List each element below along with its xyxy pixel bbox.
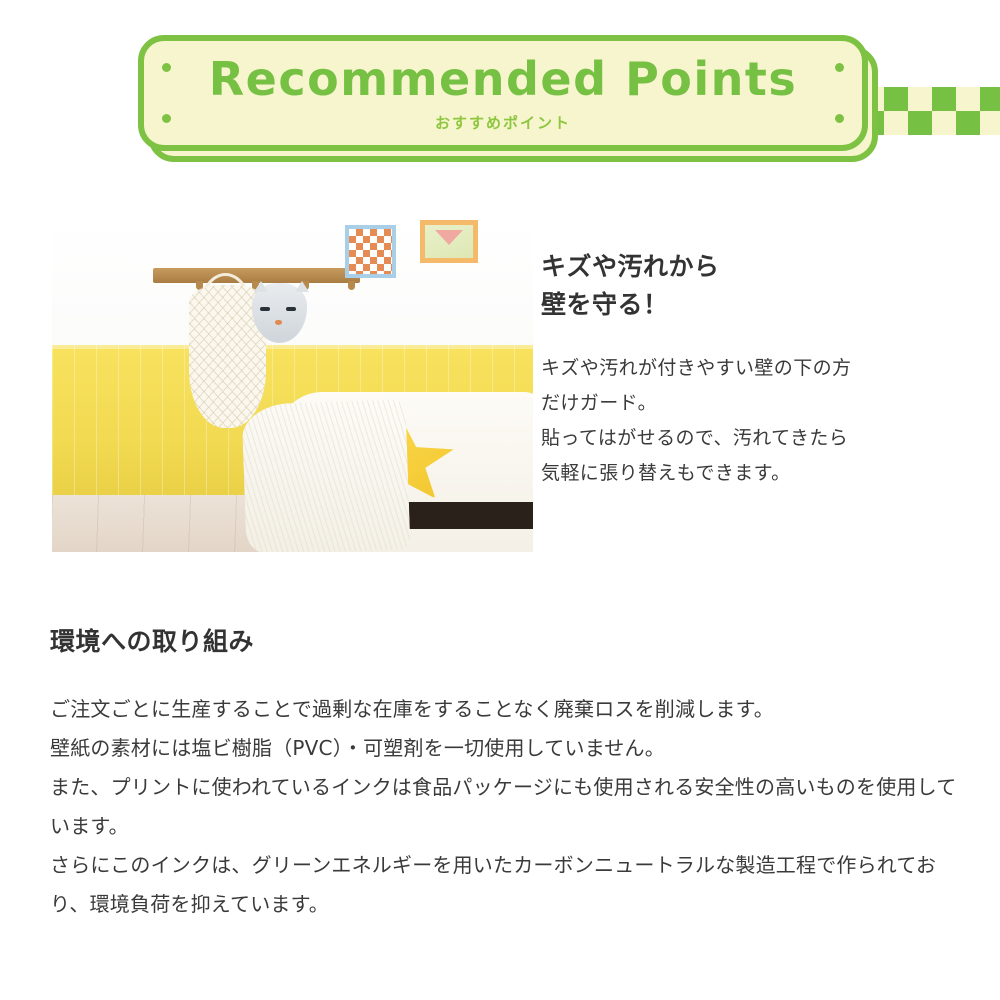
feature-text-block: キズや汚れから 壁を守る！ キズや汚れが付きやすい壁の下の方 だけガード。 貼っ…	[541, 248, 952, 492]
feature-heading-line-2: 壁を守る！	[541, 286, 952, 324]
photo-throw-blanket	[242, 399, 411, 552]
eco-paragraph: ご注文ごとに生産することで過剰な在庫をすることなく廃棄ロスを削減します。	[50, 690, 960, 729]
page-banner: Recommended Points おすすめポイント	[0, 30, 1000, 170]
photo-cat-mask-nose-icon	[275, 320, 282, 325]
feature-body: キズや汚れが付きやすい壁の下の方 だけガード。 貼ってはがせるので、汚れてきたら…	[541, 351, 952, 492]
checker-pattern-right	[860, 87, 1000, 135]
photo-framed-art-checker	[345, 225, 396, 278]
photo-cat-mask-eye-left-icon	[260, 307, 270, 311]
eco-body: ご注文ごとに生産することで過剰な在庫をすることなく廃棄ロスを削減します。 壁紙の…	[50, 690, 960, 924]
banner-title: Recommended Points	[209, 56, 798, 102]
feature-heading: キズや汚れから 壁を守る！	[541, 248, 952, 323]
eco-heading: 環境への取り組み	[50, 622, 960, 658]
feature-body-line-3: 貼ってはがせるので、汚れてきたら	[541, 421, 952, 456]
photo-cat-mask-ear-left-icon	[254, 281, 268, 292]
eco-paragraph: また、プリントに使われているインクは食品パッケージにも使用される安全性の高いもの…	[50, 768, 960, 846]
eco-section: 環境への取り組み ご注文ごとに生産することで過剰な在庫をすることなく廃棄ロスを削…	[50, 622, 960, 924]
feature-body-line-2: だけガード。	[541, 386, 952, 421]
recommended-points-page: Recommended Points おすすめポイント	[0, 0, 1000, 1000]
feature-heading-line-1: キズや汚れから	[541, 248, 952, 286]
feature-body-line-1: キズや汚れが付きやすい壁の下の方	[541, 351, 952, 386]
screw-dot-top-right-icon	[835, 63, 844, 72]
banner-plaque: Recommended Points おすすめポイント	[138, 35, 868, 151]
room-photo	[52, 218, 533, 552]
eco-paragraph: さらにこのインクは、グリーンエネルギーを用いたカーボンニュートラルな製造工程で作…	[50, 846, 960, 924]
screw-dot-top-left-icon	[162, 63, 171, 72]
photo-framed-art-orange	[420, 220, 478, 263]
screw-dot-bottom-right-icon	[835, 114, 844, 123]
feature-body-line-4: 気軽に張り替えもできます。	[541, 456, 952, 491]
banner-subtitle: おすすめポイント	[435, 112, 571, 133]
eco-paragraph: 壁紙の素材には塩ビ樹脂（PVC）・可塑剤を一切使用していません。	[50, 729, 960, 768]
photo-wainscot-cap	[52, 345, 533, 349]
photo-cat-mask-ear-right-icon	[295, 281, 309, 292]
screw-dot-bottom-left-icon	[162, 114, 171, 123]
photo-cat-mask-eye-right-icon	[286, 307, 296, 311]
photo-peg-4-icon	[348, 281, 355, 290]
